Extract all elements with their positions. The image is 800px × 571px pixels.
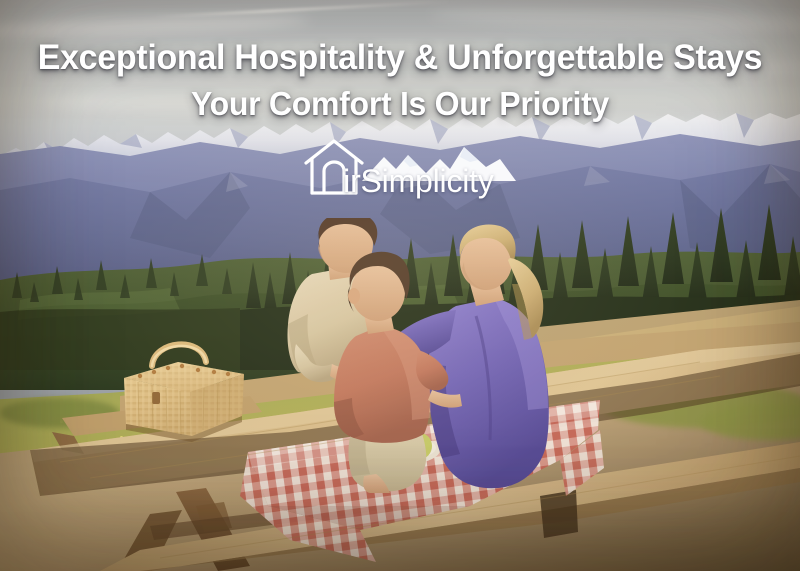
brand-rest-letters: irSimplicity [343,163,494,199]
headline-line-2: Your Comfort Is Our Priority [12,83,788,125]
cloud [430,5,800,35]
hero-banner: Exceptional Hospitality & Unforgettable … [0,0,800,571]
headline-line-1: Exceptional Hospitality & Unforgettable … [12,38,788,78]
headline-block: Exceptional Hospitality & Unforgettable … [0,38,800,125]
brand-logo[interactable]: AirSimplicity [300,137,520,199]
family-group [260,218,560,493]
picnic-basket [118,330,248,445]
brand-logo-text: AirSimplicity [322,163,494,200]
